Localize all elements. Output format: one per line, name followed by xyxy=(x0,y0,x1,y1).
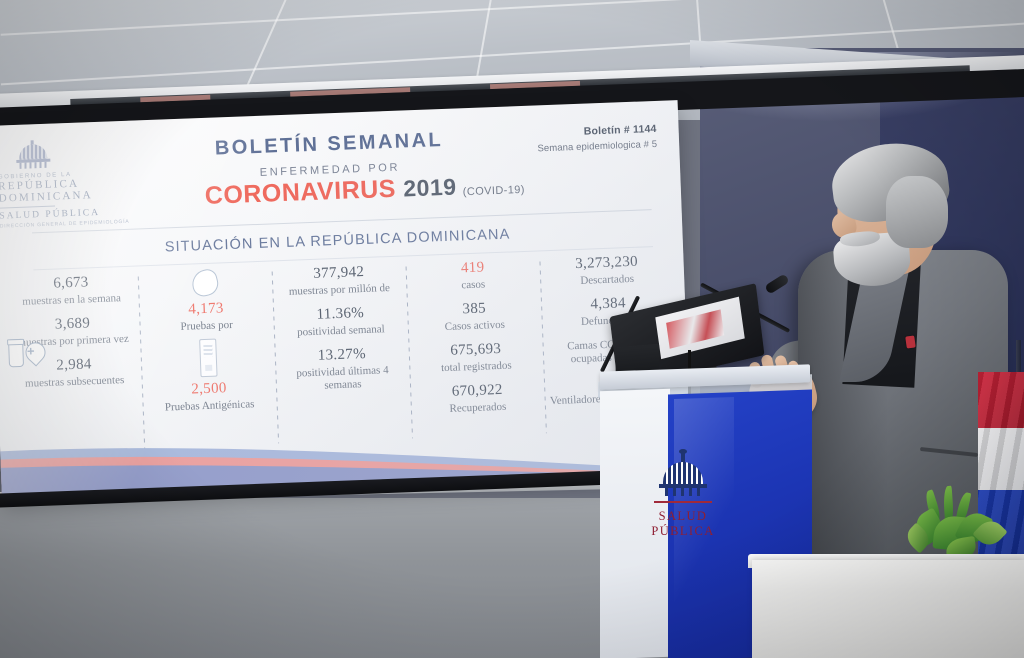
disease-year: 2019 xyxy=(403,173,457,201)
stat-label: Recuperados xyxy=(449,401,506,416)
stat-label: total registrados xyxy=(441,359,512,375)
podium-logo-text: SALUD PÚBLICA xyxy=(628,509,738,539)
stat-label: Pruebas Antigénicas xyxy=(165,398,255,414)
stat-value: 4,384 xyxy=(590,295,626,313)
slide-meta: Boletín # 1144 Semana epidemiologica # 5 xyxy=(537,123,658,154)
slide-covid-paren: (COVID-19) xyxy=(463,184,525,198)
podium-logo-rule xyxy=(654,501,712,503)
podium-crest-icon xyxy=(655,450,711,496)
stat-label: Pruebas por xyxy=(180,319,233,334)
government-crest-icon xyxy=(13,140,54,171)
laptop-screen-content xyxy=(666,309,724,348)
lapel-pin xyxy=(905,335,916,348)
stat-label: muestras por millón de xyxy=(289,282,391,299)
stat-value: 6,673 xyxy=(53,274,89,292)
stat-label: positividad semanal xyxy=(297,323,385,339)
slide-title: BOLETÍN SEMANAL xyxy=(179,128,480,162)
podium-logo: SALUD PÚBLICA xyxy=(628,450,738,539)
logo-divider xyxy=(0,206,55,209)
disease-name: CORONAVIRUS xyxy=(204,175,396,210)
stat-label: muestras en la semana xyxy=(22,292,121,309)
speaker-hair-back xyxy=(886,176,948,248)
stat-label: muestras subsecuentes xyxy=(25,374,125,391)
screenshot-root: GOBIERNO DE LA REPÚBLICA DOMINICANA SALU… xyxy=(0,0,1024,658)
stat-value: 11.36% xyxy=(316,305,364,324)
nasal-swab-icon xyxy=(189,267,221,299)
slide: GOBIERNO DE LA REPÚBLICA DOMINICANA SALU… xyxy=(0,100,691,498)
stat-value: 675,693 xyxy=(450,341,501,360)
test-tube-blood-drop-icon xyxy=(8,338,46,367)
stat-label: Descartados xyxy=(580,273,634,288)
slide-title-block: BOLETÍN SEMANAL ENFERMEDAD POR CORONAVIR… xyxy=(179,128,482,212)
stat-value: 377,942 xyxy=(313,264,364,283)
stat-value: 3,689 xyxy=(55,315,91,333)
stat-value: 3,273,230 xyxy=(575,254,638,273)
stat-label: casos xyxy=(461,278,485,292)
antigen-test-cassette-icon xyxy=(199,339,217,378)
bulletin-number: Boletín # 1144 xyxy=(537,123,657,139)
projector-screen: GOBIERNO DE LA REPÚBLICA DOMINICANA SALU… xyxy=(0,100,691,498)
stat-value: 2,500 xyxy=(191,380,227,398)
draped-table xyxy=(752,560,1024,658)
stat-value: 2,984 xyxy=(56,356,92,374)
slide-logo: GOBIERNO DE LA REPÚBLICA DOMINICANA SALU… xyxy=(0,136,150,230)
epi-week: Semana epidemiologica # 5 xyxy=(537,139,657,154)
stat-label: positividad últimas 4 semanas xyxy=(279,363,406,394)
stat-value: 13.27% xyxy=(318,346,367,365)
stat-value: 4,173 xyxy=(188,300,224,318)
logo-line-republica: REPÚBLICA DOMINICANA xyxy=(0,175,149,205)
stat-label: Casos activos xyxy=(445,319,506,334)
stat-value: 670,922 xyxy=(452,382,503,401)
test-tube-icon xyxy=(8,339,24,368)
stat-value: 419 xyxy=(461,259,485,277)
stat-value: 385 xyxy=(462,300,486,318)
